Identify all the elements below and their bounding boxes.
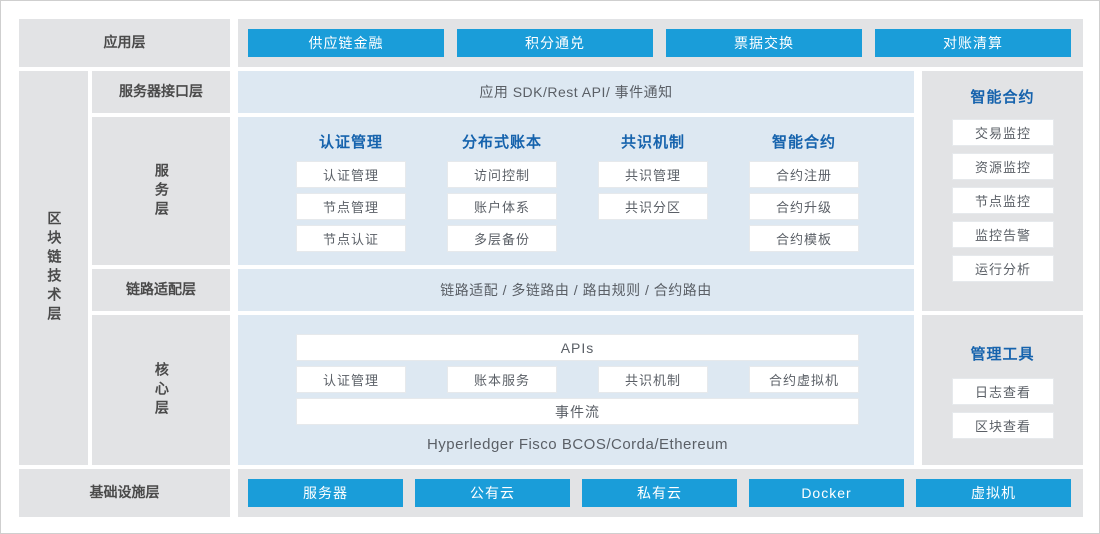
service-item-node-management[interactable]: 节点管理 — [296, 193, 406, 220]
service-column-title-auth: 认证管理 — [296, 130, 406, 152]
side-panel-smart-contract: 智能合约 交易监控 资源监控 节点监控 监控告警 运行分析 — [922, 71, 1083, 311]
architecture-diagram: 应用层 供应链金融 积分通兑 票据交换 对账清算 区块链技术层 服务器接口层 应… — [0, 0, 1100, 534]
app-item-points-exchange[interactable]: 积分通兑 — [457, 29, 653, 57]
service-column-title-smart-contract: 智能合约 — [749, 130, 859, 152]
side-item-transaction-monitoring[interactable]: 交易监控 — [952, 119, 1054, 146]
side-item-node-monitoring[interactable]: 节点监控 — [952, 187, 1054, 214]
link-adapter-layer-label: 链路适配层 — [92, 269, 230, 311]
service-item-contract-registration[interactable]: 合约注册 — [749, 161, 859, 188]
side-item-monitoring-alerts[interactable]: 监控告警 — [952, 221, 1054, 248]
server-interface-layer-label-block: 服务器接口层 — [92, 71, 230, 113]
application-layer-items-block: 供应链金融 积分通兑 票据交换 对账清算 — [238, 19, 1083, 67]
infra-item-server[interactable]: 服务器 — [248, 479, 403, 507]
service-item-multilayer-backup[interactable]: 多层备份 — [447, 225, 557, 252]
side-panel-title-smart-contract: 智能合约 — [922, 84, 1083, 108]
service-item-access-control[interactable]: 访问控制 — [447, 161, 557, 188]
side-panel-title-management-tools: 管理工具 — [922, 341, 1083, 365]
app-item-bill-exchange[interactable]: 票据交换 — [666, 29, 862, 57]
core-module-auth-management[interactable]: 认证管理 — [296, 366, 406, 393]
core-layer-content-block: APIs 认证管理 账本服务 共识机制 合约虚拟机 事件流 Hyperledge… — [238, 315, 914, 465]
infra-item-docker[interactable]: Docker — [749, 479, 904, 507]
core-module-contract-vm[interactable]: 合约虚拟机 — [749, 366, 859, 393]
link-adapter-layer-content: 链路适配 / 多链路由 / 路由规则 / 合约路由 — [238, 269, 914, 311]
service-column-title-consensus: 共识机制 — [598, 130, 708, 152]
service-item-account-system[interactable]: 账户体系 — [447, 193, 557, 220]
service-item-auth-management[interactable]: 认证管理 — [296, 161, 406, 188]
blockchain-tech-layer-label: 区块链技术层 — [19, 71, 88, 465]
infra-item-virtual-machine[interactable]: 虚拟机 — [916, 479, 1071, 507]
side-panel-management-tools: 管理工具 日志查看 区块查看 — [922, 315, 1083, 465]
infra-item-private-cloud[interactable]: 私有云 — [582, 479, 737, 507]
core-layer-label: 核心层 — [92, 315, 230, 465]
side-item-operation-analysis[interactable]: 运行分析 — [952, 255, 1054, 282]
server-interface-layer-content-block: 应用 SDK/Rest API/ 事件通知 — [238, 71, 914, 113]
service-item-consensus-partition[interactable]: 共识分区 — [598, 193, 708, 220]
core-layer-label-block: 核心层 — [92, 315, 230, 465]
service-item-consensus-management[interactable]: 共识管理 — [598, 161, 708, 188]
service-layer-label: 服务层 — [92, 117, 230, 265]
server-interface-layer-label: 服务器接口层 — [92, 71, 230, 113]
service-item-contract-upgrade[interactable]: 合约升级 — [749, 193, 859, 220]
service-column-title-distributed-ledger: 分布式账本 — [447, 130, 557, 152]
blockchain-tech-layer-rail: 区块链技术层 — [19, 71, 88, 465]
app-item-supply-chain-finance[interactable]: 供应链金融 — [248, 29, 444, 57]
service-item-node-auth[interactable]: 节点认证 — [296, 225, 406, 252]
core-event-stream-box[interactable]: 事件流 — [296, 398, 859, 425]
server-interface-layer-content: 应用 SDK/Rest API/ 事件通知 — [238, 71, 914, 113]
side-item-block-explorer[interactable]: 区块查看 — [952, 412, 1054, 439]
service-layer-label-block: 服务层 — [92, 117, 230, 265]
infrastructure-layer-label-block: 基础设施层 — [19, 469, 230, 517]
infrastructure-layer-label: 基础设施层 — [19, 469, 230, 517]
side-item-resource-monitoring[interactable]: 资源监控 — [952, 153, 1054, 180]
application-layer-label-block: 应用层 — [19, 19, 230, 67]
service-layer-content-block: 认证管理 认证管理 节点管理 节点认证 分布式账本 访问控制 账户体系 多层备份… — [238, 117, 914, 265]
core-platforms-text: Hyperledger Fisco BCOS/Corda/Ethereum — [296, 429, 859, 459]
service-item-contract-template[interactable]: 合约模板 — [749, 225, 859, 252]
core-apis-box[interactable]: APIs — [296, 334, 859, 361]
link-adapter-layer-content-block: 链路适配 / 多链路由 / 路由规则 / 合约路由 — [238, 269, 914, 311]
infra-item-public-cloud[interactable]: 公有云 — [415, 479, 570, 507]
core-module-ledger-service[interactable]: 账本服务 — [447, 366, 557, 393]
infrastructure-layer-items-block: 服务器 公有云 私有云 Docker 虚拟机 — [238, 469, 1083, 517]
link-adapter-layer-label-block: 链路适配层 — [92, 269, 230, 311]
app-item-reconciliation-settlement[interactable]: 对账清算 — [875, 29, 1071, 57]
side-item-log-viewer[interactable]: 日志查看 — [952, 378, 1054, 405]
application-layer-label: 应用层 — [19, 19, 230, 67]
core-module-consensus-mechanism[interactable]: 共识机制 — [598, 366, 708, 393]
